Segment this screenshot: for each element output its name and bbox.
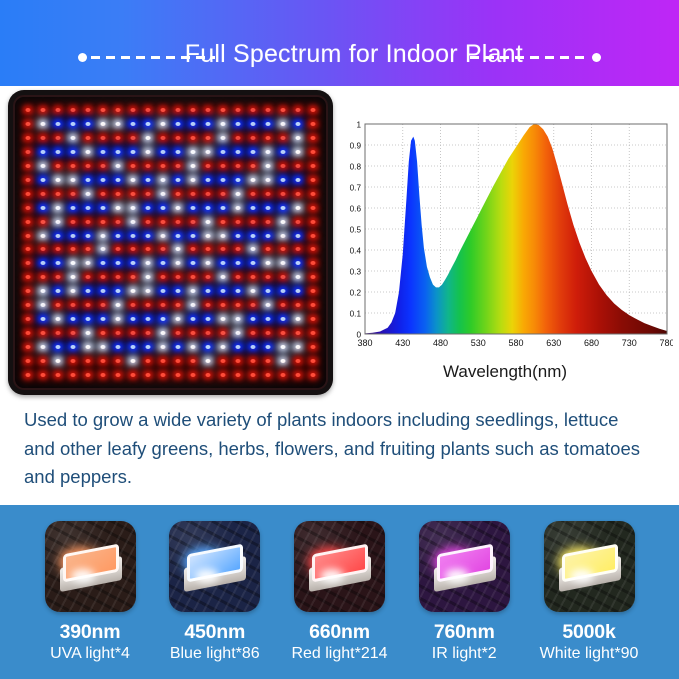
led-dot: [141, 145, 156, 159]
led-dot: [290, 229, 305, 243]
led-dot: [81, 201, 96, 215]
led-dot: [126, 368, 141, 382]
led-dot: [21, 117, 36, 131]
led-dot: [185, 201, 200, 215]
led-dot: [245, 103, 260, 117]
led-dot: [200, 284, 215, 298]
led-dot: [230, 201, 245, 215]
led-dot: [170, 117, 185, 131]
led-dot: [275, 215, 290, 229]
led-dot: [141, 173, 156, 187]
led-dot: [170, 326, 185, 340]
led-dot: [290, 201, 305, 215]
led-dot: [111, 256, 126, 270]
led-dot: [51, 298, 66, 312]
led-dot: [200, 340, 215, 354]
led-dot: [200, 173, 215, 187]
led-dot: [156, 298, 171, 312]
led-dot: [156, 103, 171, 117]
led-dot: [230, 298, 245, 312]
led-dot: [290, 215, 305, 229]
led-dot: [200, 131, 215, 145]
led-dot: [156, 131, 171, 145]
led-dot: [170, 131, 185, 145]
led-dot: [245, 326, 260, 340]
led-dot: [141, 284, 156, 298]
led-dot: [260, 326, 275, 340]
led-dot: [305, 256, 320, 270]
led-dot: [275, 242, 290, 256]
led-dot: [260, 298, 275, 312]
led-dot: [290, 312, 305, 326]
led-dot: [170, 256, 185, 270]
led-dot: [200, 270, 215, 284]
led-dot: [305, 242, 320, 256]
led-dot: [21, 270, 36, 284]
led-dot: [185, 368, 200, 382]
led-dot: [245, 256, 260, 270]
led-dot: [215, 256, 230, 270]
led-dot: [185, 159, 200, 173]
led-dot: [185, 354, 200, 368]
led-dot: [215, 187, 230, 201]
led-dot: [230, 103, 245, 117]
led-dot: [215, 103, 230, 117]
led-dot: [305, 103, 320, 117]
led-dot: [36, 284, 51, 298]
led-dot: [305, 354, 320, 368]
led-dot: [230, 145, 245, 159]
led-dot: [185, 312, 200, 326]
led-dot: [111, 312, 126, 326]
led-chip-photo: [419, 521, 510, 612]
led-dot: [66, 215, 81, 229]
led-dot: [290, 242, 305, 256]
led-dot: [185, 117, 200, 131]
led-dot: [36, 312, 51, 326]
led-dot: [21, 215, 36, 229]
led-dot: [290, 173, 305, 187]
led-dot: [66, 131, 81, 145]
led-dot: [215, 326, 230, 340]
led-dot: [156, 354, 171, 368]
led-dot: [111, 326, 126, 340]
led-dot: [260, 187, 275, 201]
led-dot: [156, 187, 171, 201]
page-title: Full Spectrum for Indoor Plant Suitable …: [0, 8, 679, 86]
led-dot: [66, 117, 81, 131]
led-dot: [185, 340, 200, 354]
led-dot: [66, 242, 81, 256]
led-dot: [185, 229, 200, 243]
led-dot: [111, 145, 126, 159]
led-dot: [96, 187, 111, 201]
svg-text:780: 780: [659, 338, 673, 348]
led-dot: [51, 159, 66, 173]
led-dot: [126, 298, 141, 312]
led-dot: [305, 187, 320, 201]
led-dot: [81, 326, 96, 340]
led-dot: [21, 368, 36, 382]
led-dot: [200, 229, 215, 243]
led-dot: [81, 368, 96, 382]
led-dot: [260, 159, 275, 173]
svg-text:0.7: 0.7: [350, 183, 362, 192]
led-dot: [66, 270, 81, 284]
led-dot: [81, 284, 96, 298]
led-dot: [66, 368, 81, 382]
dot-icon: [592, 53, 601, 62]
svg-text:680: 680: [584, 338, 599, 348]
led-dot: [245, 270, 260, 284]
led-wavelength-label: 450nm: [184, 621, 245, 644]
smd-led-body: [309, 549, 371, 589]
led-dot: [275, 312, 290, 326]
led-dot: [36, 354, 51, 368]
led-dot: [111, 242, 126, 256]
led-dot: [96, 159, 111, 173]
led-dot: [51, 173, 66, 187]
led-dot: [290, 145, 305, 159]
led-dot: [36, 270, 51, 284]
led-dot: [96, 256, 111, 270]
led-dot: [21, 256, 36, 270]
led-dot: [141, 312, 156, 326]
led-dot: [305, 298, 320, 312]
led-dot: [81, 229, 96, 243]
smd-led-body: [60, 549, 122, 589]
led-dot: [260, 354, 275, 368]
led-chip-item[interactable]: 660nmRed light*214: [282, 521, 398, 679]
led-dot: [156, 201, 171, 215]
led-dot: [21, 103, 36, 117]
led-dot: [21, 340, 36, 354]
led-grid: [21, 103, 320, 382]
led-dot: [290, 298, 305, 312]
led-dot: [215, 173, 230, 187]
led-dot: [156, 117, 171, 131]
led-dot: [126, 159, 141, 173]
product-photo: [8, 90, 333, 395]
led-dot: [275, 159, 290, 173]
led-dot: [126, 145, 141, 159]
led-dot: [260, 173, 275, 187]
led-dot: [81, 145, 96, 159]
led-dot: [185, 284, 200, 298]
led-dot: [96, 229, 111, 243]
led-count-label: UVA light*4: [50, 645, 130, 663]
led-dot: [200, 145, 215, 159]
led-dot: [81, 354, 96, 368]
led-dot: [260, 229, 275, 243]
led-flare: [320, 569, 344, 583]
led-dot: [66, 145, 81, 159]
led-dot: [200, 117, 215, 131]
led-dot: [36, 229, 51, 243]
led-dot: [275, 187, 290, 201]
led-dot: [230, 131, 245, 145]
led-dot: [305, 131, 320, 145]
led-dot: [275, 284, 290, 298]
led-dot: [170, 298, 185, 312]
led-dot: [141, 229, 156, 243]
led-dot: [141, 326, 156, 340]
led-dot: [260, 242, 275, 256]
led-dot: [260, 368, 275, 382]
led-dot: [126, 340, 141, 354]
led-dot: [36, 256, 51, 270]
led-dot: [275, 173, 290, 187]
led-dot: [275, 103, 290, 117]
led-dot: [215, 159, 230, 173]
led-wavelength-label: 390nm: [60, 621, 121, 644]
led-dot: [245, 340, 260, 354]
led-dot: [51, 229, 66, 243]
led-dot: [170, 368, 185, 382]
led-dot: [51, 117, 66, 131]
led-dot: [66, 229, 81, 243]
svg-text:480: 480: [433, 338, 448, 348]
led-dot: [170, 312, 185, 326]
led-dot: [111, 340, 126, 354]
led-dot: [36, 298, 51, 312]
led-chip-photo: [45, 521, 136, 612]
svg-text:580: 580: [508, 338, 523, 348]
led-dot: [111, 159, 126, 173]
led-dot: [245, 117, 260, 131]
led-dot: [36, 242, 51, 256]
led-dot: [126, 284, 141, 298]
led-dot: [126, 270, 141, 284]
led-dot: [305, 312, 320, 326]
led-dot: [200, 354, 215, 368]
led-panel-board: [8, 90, 333, 395]
led-dot: [36, 215, 51, 229]
led-dot: [275, 117, 290, 131]
led-dot: [81, 270, 96, 284]
led-dot: [111, 117, 126, 131]
led-dot: [51, 242, 66, 256]
led-dot: [81, 312, 96, 326]
led-dot: [66, 173, 81, 187]
led-dot: [200, 187, 215, 201]
led-dot: [81, 187, 96, 201]
led-dot: [81, 159, 96, 173]
svg-text:0.8: 0.8: [350, 162, 362, 171]
led-dot: [21, 201, 36, 215]
led-dot: [21, 229, 36, 243]
led-dot: [230, 270, 245, 284]
led-dot: [36, 173, 51, 187]
led-dot: [66, 103, 81, 117]
led-dot: [230, 215, 245, 229]
led-dot: [96, 298, 111, 312]
led-dot: [111, 270, 126, 284]
led-dot: [66, 298, 81, 312]
led-dot: [126, 173, 141, 187]
led-dot: [170, 284, 185, 298]
led-dot: [305, 284, 320, 298]
led-dot: [245, 368, 260, 382]
led-dot: [51, 131, 66, 145]
led-dot: [305, 145, 320, 159]
led-dot: [111, 284, 126, 298]
led-dot: [156, 312, 171, 326]
led-dot: [141, 340, 156, 354]
svg-text:0.6: 0.6: [350, 204, 362, 213]
led-dot: [36, 131, 51, 145]
led-dot: [260, 270, 275, 284]
led-dot: [170, 242, 185, 256]
led-dot: [51, 284, 66, 298]
led-dot: [66, 159, 81, 173]
led-chip-item[interactable]: 450nmBlue light*86: [157, 521, 273, 679]
led-dot: [111, 173, 126, 187]
svg-text:530: 530: [471, 338, 486, 348]
led-dot: [230, 326, 245, 340]
led-dot: [96, 173, 111, 187]
led-dot: [156, 284, 171, 298]
led-dot: [126, 117, 141, 131]
led-dot: [245, 145, 260, 159]
led-count-label: Blue light*86: [170, 645, 260, 663]
led-chip-item[interactable]: 5000kWhite light*90: [531, 521, 647, 679]
led-dot: [141, 201, 156, 215]
led-dot: [215, 312, 230, 326]
led-dot: [96, 326, 111, 340]
led-dot: [96, 117, 111, 131]
led-dot: [81, 117, 96, 131]
led-dot: [111, 131, 126, 145]
led-dot: [260, 256, 275, 270]
led-dot: [170, 173, 185, 187]
decorative-dash-right: [464, 52, 601, 62]
led-dot: [141, 354, 156, 368]
led-flare: [570, 569, 594, 583]
product-description: Used to grow a wide variety of plants in…: [24, 406, 654, 492]
led-dot: [275, 201, 290, 215]
led-panel-bezel: [13, 95, 328, 390]
led-dot: [200, 326, 215, 340]
led-dot: [170, 215, 185, 229]
led-dot: [305, 270, 320, 284]
led-chip-photo: [294, 521, 385, 612]
led-dot: [156, 242, 171, 256]
led-dot: [200, 312, 215, 326]
led-dot: [260, 103, 275, 117]
led-dot: [111, 229, 126, 243]
led-dot: [245, 242, 260, 256]
led-dot: [245, 298, 260, 312]
led-dot: [305, 201, 320, 215]
led-dot: [21, 159, 36, 173]
led-dot: [290, 159, 305, 173]
led-dot: [275, 256, 290, 270]
led-dot: [156, 145, 171, 159]
led-dot: [156, 159, 171, 173]
led-dot: [96, 145, 111, 159]
led-dot: [170, 103, 185, 117]
led-chip-item[interactable]: 760nmIR light*2: [406, 521, 522, 679]
led-dot: [36, 326, 51, 340]
led-dot: [126, 187, 141, 201]
led-dot: [230, 173, 245, 187]
led-dot: [215, 284, 230, 298]
svg-text:430: 430: [395, 338, 410, 348]
led-dot: [185, 131, 200, 145]
led-dot: [96, 201, 111, 215]
svg-text:0.3: 0.3: [350, 267, 362, 276]
led-dot: [215, 270, 230, 284]
led-dot: [185, 103, 200, 117]
led-dot: [126, 201, 141, 215]
led-dot: [96, 284, 111, 298]
led-dot: [156, 326, 171, 340]
led-dot: [230, 340, 245, 354]
led-dot: [200, 242, 215, 256]
led-dot: [21, 131, 36, 145]
led-dot: [51, 270, 66, 284]
spectrum-chart: 00.10.20.30.40.50.60.70.80.9138043048053…: [337, 116, 673, 386]
led-chip-list: 390nmUVA light*4450nmBlue light*86660nmR…: [0, 505, 679, 679]
led-chip-photo: [169, 521, 260, 612]
led-dot: [36, 103, 51, 117]
led-dot: [126, 354, 141, 368]
led-dot: [126, 215, 141, 229]
decorative-dash-left: [78, 52, 215, 62]
led-dot: [111, 298, 126, 312]
led-dot: [245, 354, 260, 368]
led-dot: [215, 298, 230, 312]
led-dot: [96, 312, 111, 326]
dashed-line-icon: [464, 56, 588, 59]
spectrum-chart-svg: 00.10.20.30.40.50.60.70.80.9138043048053…: [337, 116, 673, 360]
led-dot: [215, 229, 230, 243]
led-dot: [51, 103, 66, 117]
led-dot: [126, 256, 141, 270]
smd-led-body: [559, 549, 621, 589]
led-dot: [200, 368, 215, 382]
led-dot: [21, 354, 36, 368]
led-dot: [230, 312, 245, 326]
led-dot: [51, 256, 66, 270]
led-dot: [290, 117, 305, 131]
led-dot: [245, 173, 260, 187]
led-dot: [66, 312, 81, 326]
led-dot: [260, 201, 275, 215]
led-dot: [230, 159, 245, 173]
led-dot: [230, 242, 245, 256]
led-dot: [51, 340, 66, 354]
led-dot: [111, 354, 126, 368]
led-dot: [111, 201, 126, 215]
led-dot: [185, 173, 200, 187]
svg-text:0.5: 0.5: [350, 225, 362, 234]
led-dot: [51, 201, 66, 215]
led-dot: [111, 187, 126, 201]
led-dot: [185, 215, 200, 229]
led-dot: [51, 326, 66, 340]
smd-led-body: [434, 549, 496, 589]
led-dot: [215, 131, 230, 145]
led-dot: [96, 270, 111, 284]
led-dot: [96, 131, 111, 145]
led-chip-item[interactable]: 390nmUVA light*4: [32, 521, 148, 679]
led-dot: [36, 368, 51, 382]
led-dot: [156, 173, 171, 187]
led-dot: [260, 117, 275, 131]
led-dot: [141, 298, 156, 312]
